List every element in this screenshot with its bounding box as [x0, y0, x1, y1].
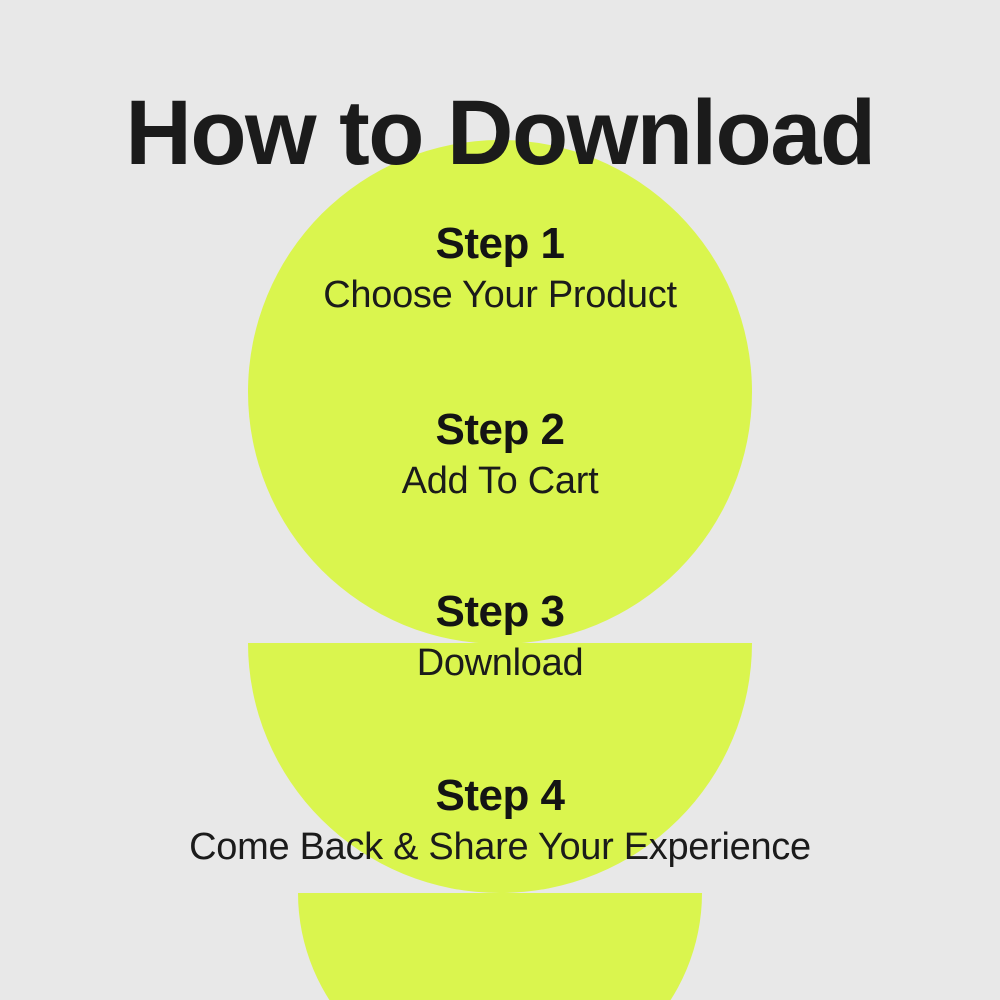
- step-2-description: Add To Cart: [0, 462, 1000, 500]
- step-1-description: Choose Your Product: [0, 276, 1000, 314]
- step-2-title: Step 2: [0, 408, 1000, 452]
- step-4-description: Come Back & Share Your Experience: [0, 828, 1000, 866]
- steps-list: Step 1 Choose Your Product Step 2 Add To…: [0, 0, 1000, 1000]
- poster-canvas: How to Download Step 1 Choose Your Produ…: [0, 0, 1000, 1000]
- step-1-title: Step 1: [0, 222, 1000, 266]
- step-item-1: Step 1 Choose Your Product: [0, 222, 1000, 314]
- step-item-4: Step 4 Come Back & Share Your Experience: [0, 774, 1000, 866]
- step-4-title: Step 4: [0, 774, 1000, 818]
- step-3-title: Step 3: [0, 590, 1000, 634]
- step-item-2: Step 2 Add To Cart: [0, 408, 1000, 500]
- step-item-3: Step 3 Download: [0, 590, 1000, 682]
- step-3-description: Download: [0, 644, 1000, 682]
